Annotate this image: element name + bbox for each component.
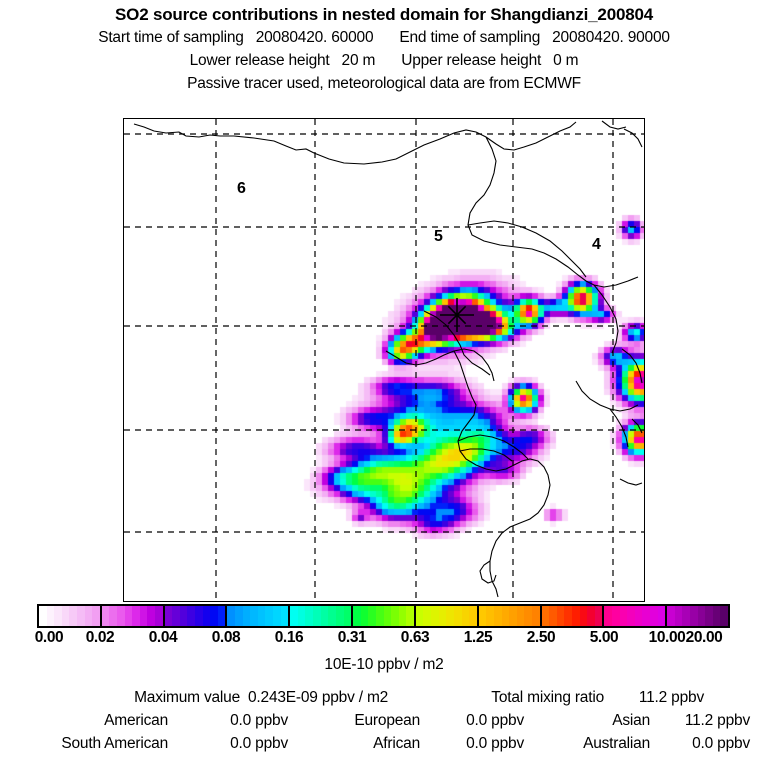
colorbar-tick-6: 0.63 [401,629,430,647]
colorbar-segment-2 [163,606,226,626]
colorbar-segment-8 [540,606,603,626]
tracer-note-row: Passive tracer used, meteorological data… [0,72,768,95]
colorbar-segment-0 [39,606,100,626]
maximum-value: 0.243E-09 ppbv / m2 [240,686,454,709]
colorbar-tick-3: 0.08 [212,629,241,647]
colorbar-tick-7: 1.25 [464,629,493,647]
region-australian-label: Australian [546,732,650,755]
colorbar-segment-7 [477,606,540,626]
region-australian-value: 0.0 ppbv [650,732,750,755]
total-mixing-ratio-value: 11.2 ppbv [604,686,704,709]
region-american-label: American [18,709,168,732]
lower-release-height-value: 20 m [342,49,376,72]
colorbar-tick-11: 20.00 [686,629,723,647]
colorbar-segment-4 [288,606,351,626]
upper-release-height-value: 0 m [553,49,578,72]
region-african-label: African [310,732,420,755]
colorbar-tick-8: 2.50 [527,629,556,647]
region-asian-label: Asian [546,709,650,732]
region-american-value: 0.0 ppbv [168,709,310,732]
region-european-label: European [310,709,420,732]
map-plot-area[interactable]: 654 [123,118,645,602]
colorbar: 0.000.020.040.080.160.310.631.252.505.00… [37,604,730,649]
release-height-row: Lower release height 20 m Upper release … [0,49,768,72]
upper-release-height-label: Upper release height [401,49,541,72]
statistics-block: Maximum value 0.243E-09 ppbv / m2 Total … [0,686,768,755]
region-european-value: 0.0 ppbv [420,709,546,732]
plot-header: SO2 source contributions in nested domai… [0,4,768,95]
colorbar-tick-5: 0.31 [338,629,367,647]
region-south-american-label: South American [18,732,168,755]
total-mixing-ratio-label: Total mixing ratio [454,686,604,709]
colorbar-segment-10 [665,606,728,626]
region-south-american-value: 0.0 ppbv [168,732,310,755]
colorbar-tick-9: 5.00 [590,629,619,647]
maximum-value-label: Maximum value [64,686,240,709]
colorbar-unit-label: 10E-10 ppbv / m2 [0,656,768,674]
region-asian-value: 11.2 ppbv [650,709,750,732]
colorbar-gradient [37,604,730,628]
lower-release-height-label: Lower release height [190,49,330,72]
start-time-value: 20080420. 60000 [256,26,374,49]
page-title: SO2 source contributions in nested domai… [0,4,768,26]
stats-row-regions-2: South American 0.0 ppbv African 0.0 ppbv… [0,732,768,755]
colorbar-segment-5 [351,606,414,626]
colorbar-tick-4: 0.16 [275,629,304,647]
colorbar-segment-3 [225,606,288,626]
colorbar-tick-labels: 0.000.020.040.080.160.310.631.252.505.00… [37,629,730,649]
sampling-time-row: Start time of sampling 20080420. 60000 E… [0,26,768,49]
map-grid-label-5: 5 [434,229,443,245]
colorbar-tick-2: 0.04 [149,629,178,647]
end-time-value: 20080420. 90000 [552,26,670,49]
stats-row-regions-1: American 0.0 ppbv European 0.0 ppbv Asia… [0,709,768,732]
colorbar-tick-1: 0.02 [86,629,115,647]
colorbar-segment-6 [414,606,477,626]
region-african-value: 0.0 ppbv [420,732,546,755]
colorbar-tick-10: 10.00 [649,629,686,647]
stats-row-maximum: Maximum value 0.243E-09 ppbv / m2 Total … [0,686,768,709]
end-time-label: End time of sampling [399,26,540,49]
start-time-label: Start time of sampling [98,26,244,49]
tracer-note: Passive tracer used, meteorological data… [187,72,581,95]
colorbar-segment-1 [100,606,163,626]
map-grid-label-4: 4 [592,237,601,253]
colorbar-tick-0: 0.00 [35,629,64,647]
release-site-star-icon [124,119,644,601]
map-grid-label-6: 6 [237,181,246,197]
colorbar-segment-9 [602,606,665,626]
